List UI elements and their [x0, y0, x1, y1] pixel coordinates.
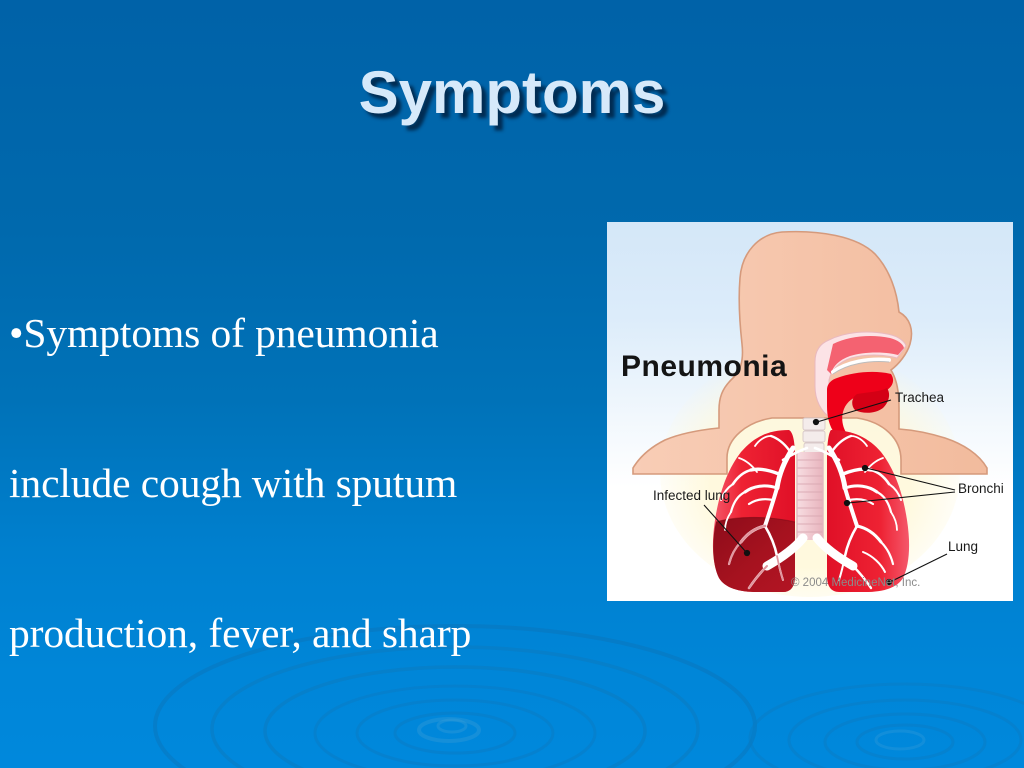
- presentation-slide: Symptoms •Symptoms of pneumonia include …: [0, 0, 1024, 768]
- pneumonia-diagram-image: Pneumonia Trachea Bronchi Lung Infected …: [607, 222, 1013, 601]
- figure-caption: Pneumonia: [621, 350, 787, 384]
- bullet-line: production, fever, and sharp: [9, 608, 599, 658]
- copyright-notice: © 2004 MedicineNet, Inc.: [791, 577, 920, 589]
- trachea-tube: [797, 452, 823, 540]
- label-lung: Lung: [948, 539, 978, 554]
- bullet-line: •Symptoms of pneumonia: [9, 308, 599, 358]
- page-title: Symptoms: [0, 58, 1024, 127]
- bullet-line: include cough with sputum: [9, 458, 599, 508]
- bullet-list: •Symptoms of pneumonia include cough wit…: [9, 208, 599, 768]
- bullet-line: chest pain on inspiration: [9, 758, 599, 768]
- label-bronchi: Bronchi: [958, 481, 1004, 496]
- label-infected-lung: Infected lung: [653, 488, 730, 503]
- label-trachea: Trachea: [895, 390, 944, 405]
